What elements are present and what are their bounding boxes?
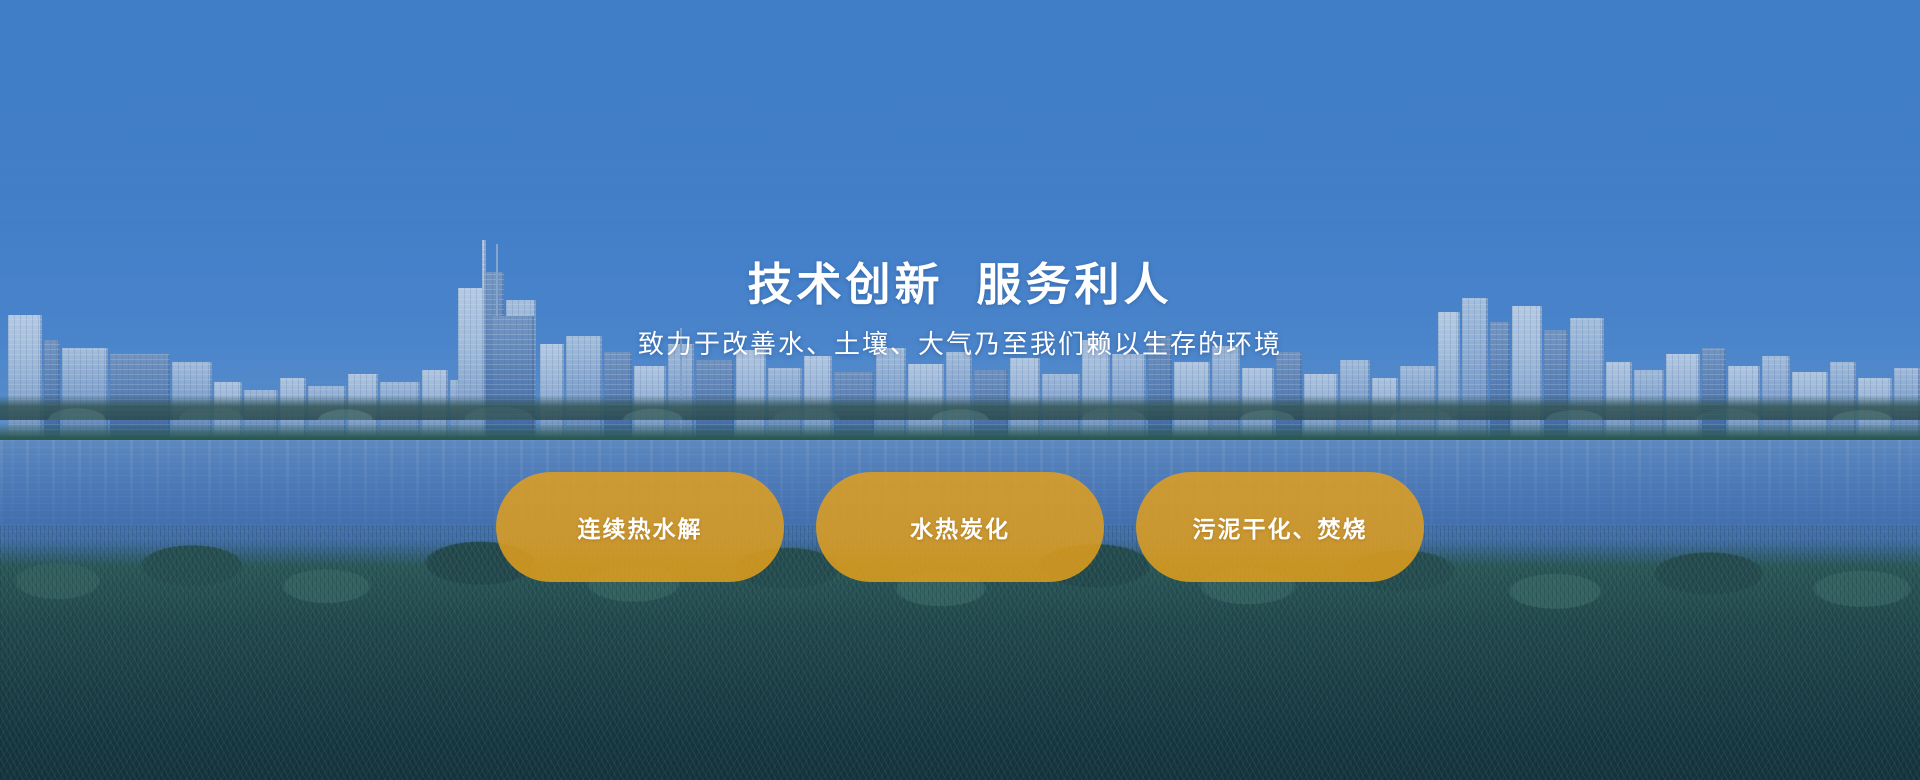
hero-button-row: 连续热水解 水热炭化 污泥干化、焚烧 xyxy=(496,472,1424,582)
hero-button-sludge-drying-incineration[interactable]: 污泥干化、焚烧 xyxy=(1136,472,1424,582)
hero-button-label: 污泥干化、焚烧 xyxy=(1193,510,1368,544)
hero-button-label: 水热炭化 xyxy=(910,510,1010,544)
hero-button-hydrothermal-carbonization[interactable]: 水热炭化 xyxy=(816,472,1104,582)
hero-subheadline: 致力于改善水、土壤、大气乃至我们赖以生存的环境 xyxy=(638,331,1282,357)
hero-banner: 技术创新 服务利人 致力于改善水、土壤、大气乃至我们赖以生存的环境 连续热水解 … xyxy=(0,0,1920,780)
hero-content: 技术创新 服务利人 致力于改善水、土壤、大气乃至我们赖以生存的环境 xyxy=(0,0,1920,780)
hero-button-label: 连续热水解 xyxy=(578,510,703,544)
hero-headline: 技术创新 服务利人 xyxy=(747,262,1172,307)
hero-button-continuous-thermal-hydrolysis[interactable]: 连续热水解 xyxy=(496,472,784,582)
